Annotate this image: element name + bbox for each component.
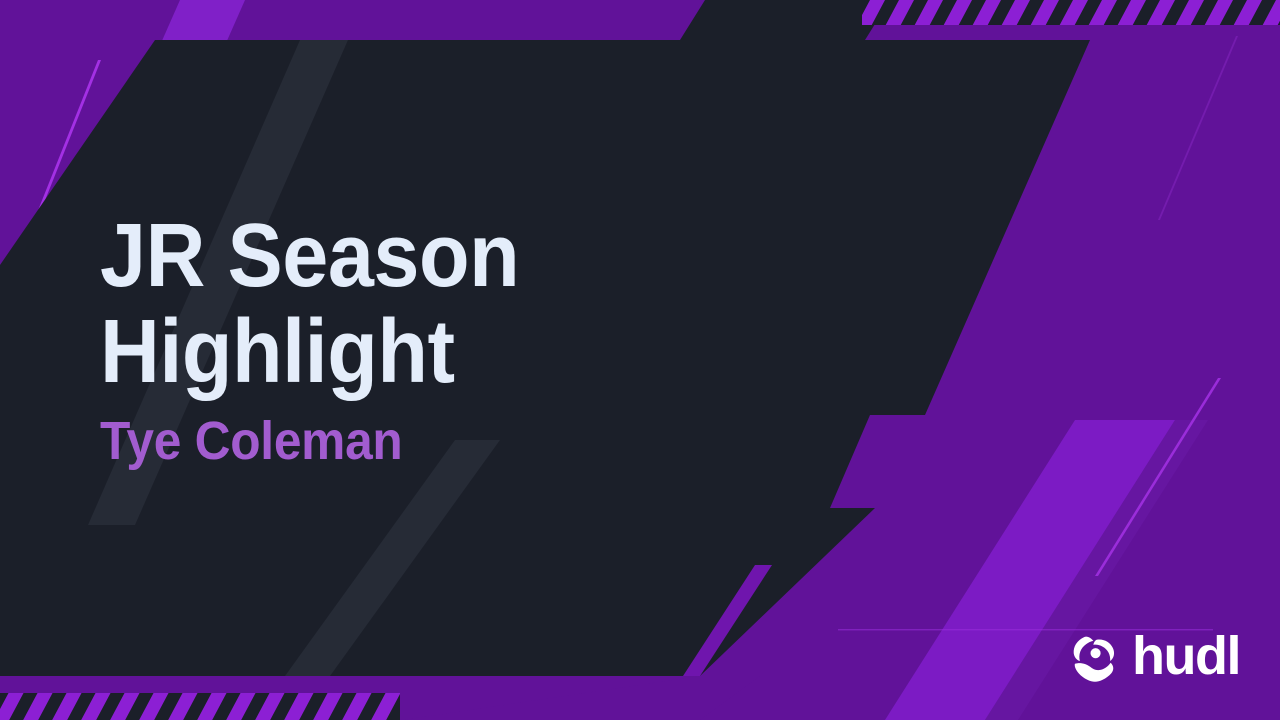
top-right-hatch-band	[862, 0, 1280, 25]
hudl-swirl-logo-icon	[1067, 628, 1123, 684]
bottom-left-hatch-band	[0, 693, 400, 720]
page-title-line-1: JR Season	[100, 208, 689, 304]
athlete-name-subtitle: Tye Coleman	[100, 410, 689, 472]
highlight-title-card: JR Season Highlight Tye Coleman hudl	[0, 0, 1280, 720]
title-text-block: JR Season Highlight Tye Coleman	[100, 208, 740, 472]
hudl-logo: hudl	[1067, 628, 1240, 684]
page-title-line-2: Highlight	[100, 304, 689, 400]
hudl-wordmark: hudl	[1132, 629, 1240, 683]
